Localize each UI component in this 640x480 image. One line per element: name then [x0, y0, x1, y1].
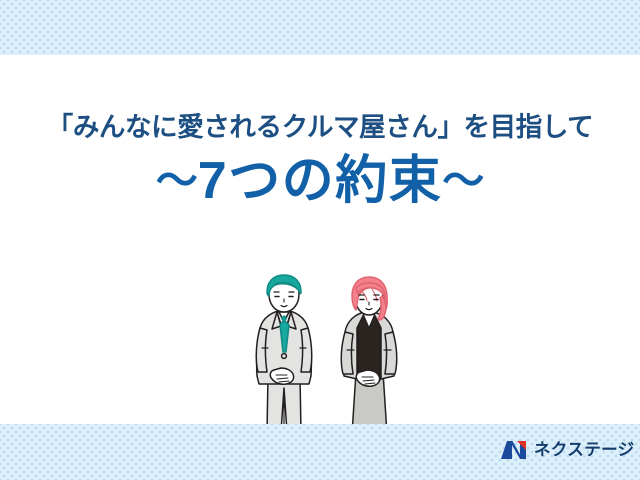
headline-secondary: 〜7つの約束〜	[0, 153, 640, 210]
headline-tilde-right: 〜	[442, 157, 484, 204]
male-staff-figure	[256, 275, 311, 432]
female-staff-figure	[341, 277, 396, 434]
headline-primary: 「みんなに愛されるクルマ屋さん」を目指して	[0, 112, 640, 142]
staff-illustration-svg	[243, 272, 423, 440]
nextage-n-mark-icon	[500, 439, 528, 461]
headline-block: 「みんなに愛されるクルマ屋さん」を目指して 〜7つの約束〜	[0, 112, 640, 211]
top-dot-band	[0, 0, 640, 55]
staff-illustration	[243, 272, 423, 440]
nextage-logo: ネクステージ	[500, 439, 635, 461]
headline-tilde-left: 〜	[156, 157, 198, 204]
headline-secondary-main: 7つの約束	[198, 152, 442, 210]
promo-banner: 「みんなに愛されるクルマ屋さん」を目指して 〜7つの約束〜	[0, 0, 640, 480]
nextage-logo-text: ネクステージ	[534, 442, 635, 459]
